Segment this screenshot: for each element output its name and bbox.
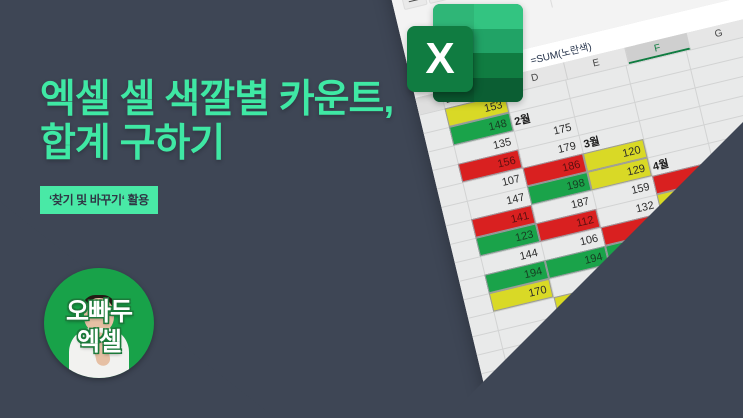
channel-logo[interactable]: 오빠두 엑셀 [44,268,154,378]
subtitle-badge: ‘찾기 및 바꾸기‘ 활용 [40,186,158,214]
title-line-1: 엑셀 셀 색깔별 카운트, [40,78,470,122]
ribbon-group-alignment-label: 맞춤 [553,0,616,5]
logo-text-bottom: 엑셀 [44,322,154,358]
logo-text: 오빠두 엑셀 [44,268,154,378]
title-line-2: 합계 구하기 [40,122,470,166]
thumbnail-canvas: 가 기 소 간 가 가 글꼴 ≡ 맞춤 % 표시 형식 [0,0,743,418]
title-block: 엑셀 셀 색깔별 카운트, 합계 구하기 ‘찾기 및 바꾸기‘ 활용 [40,78,470,214]
